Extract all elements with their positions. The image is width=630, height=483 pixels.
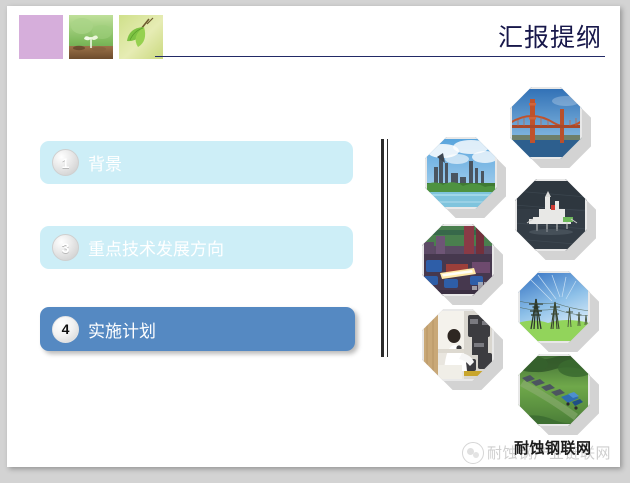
watermark-text-dark: 耐蚀钢联网 xyxy=(514,437,592,458)
watermark: 耐蚀钢产业链联网 耐蚀钢联网 xyxy=(462,436,620,467)
slide-frame: 汇报提纲 1 背景 3 重点技术发展方向 4 实施计划 xyxy=(0,0,630,483)
octagon-photo-gallery xyxy=(7,6,620,467)
cloud-logo-icon xyxy=(462,442,484,464)
presentation-slide: 汇报提纲 1 背景 3 重点技术发展方向 4 实施计划 xyxy=(7,6,620,467)
